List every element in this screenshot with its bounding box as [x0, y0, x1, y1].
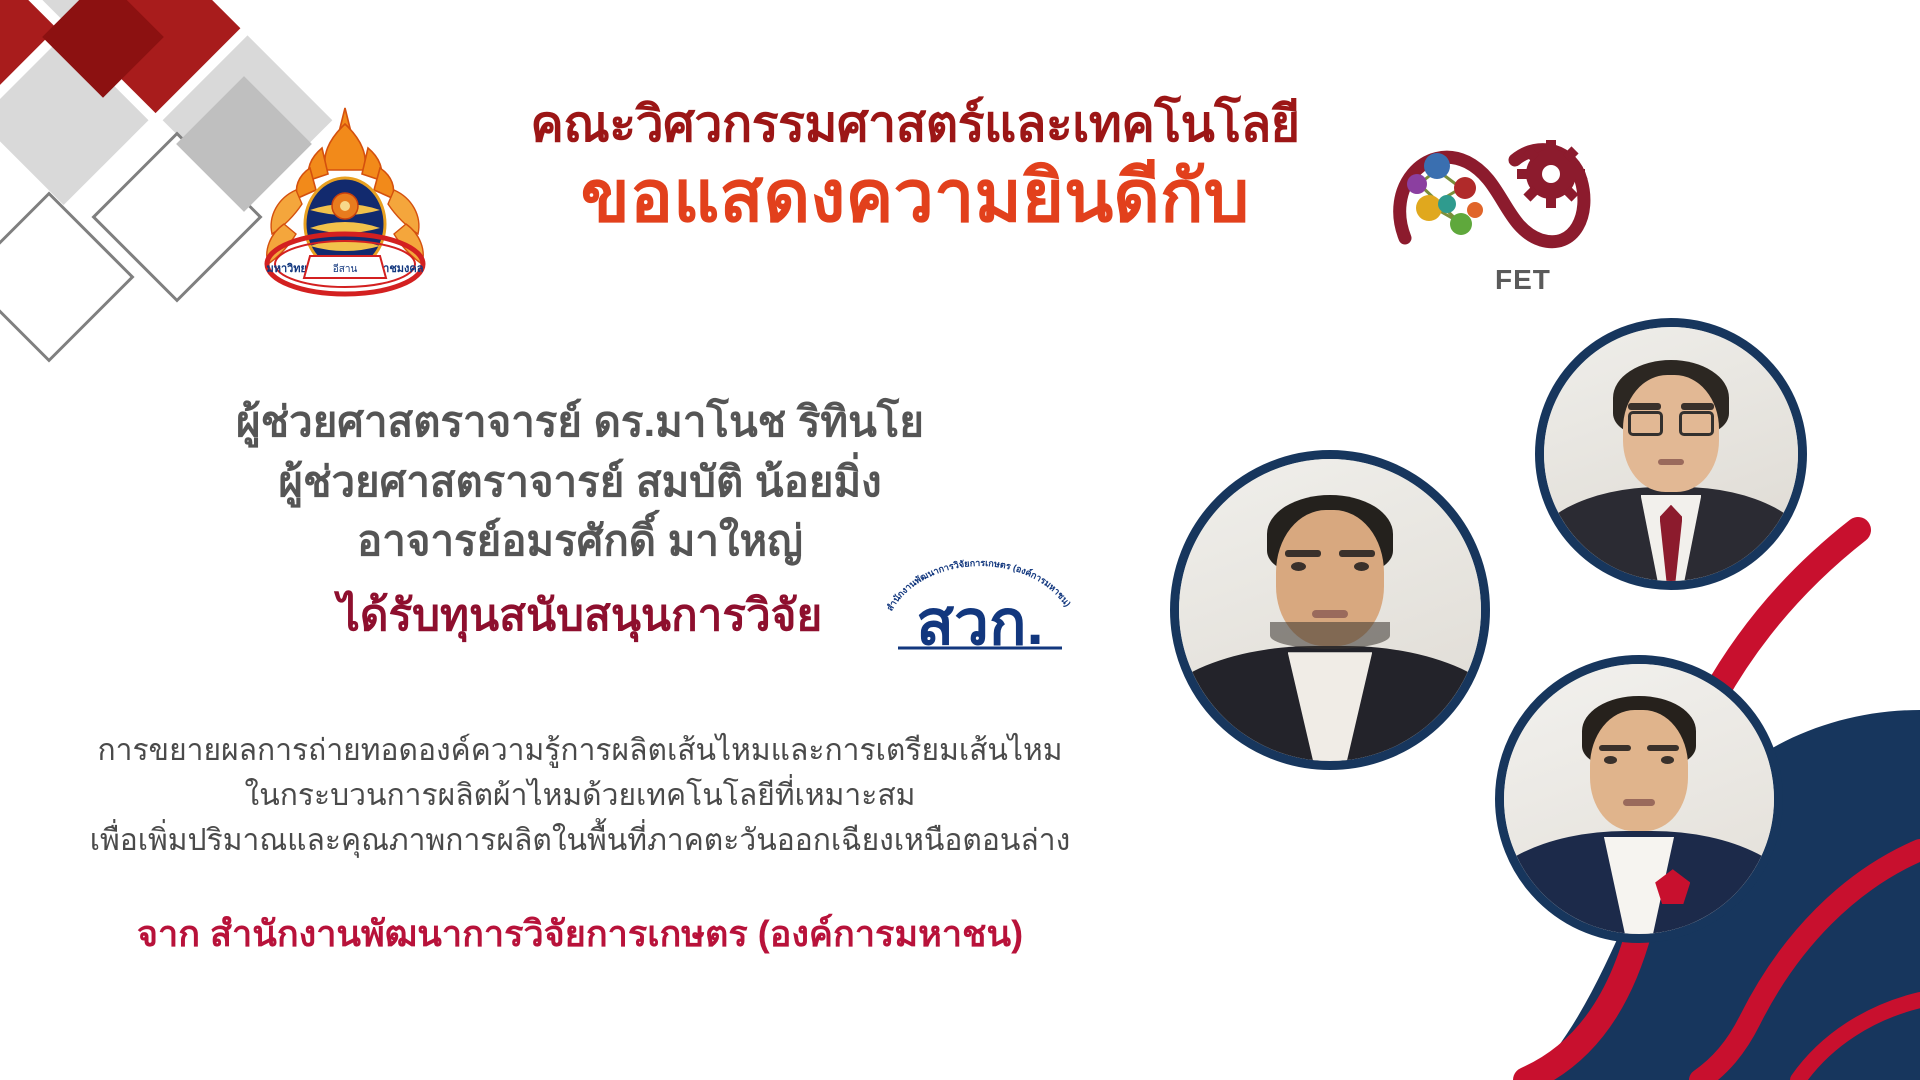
congratulation-banner: มหาวิทยาลัยเทคโนโลยีราชมงคล อีสาน คณะวิศ…	[0, 0, 1920, 1080]
faculty-title: คณะวิศวกรรมศาสตร์และเทคโนโลยี	[465, 96, 1365, 152]
fet-logo-icon	[1375, 118, 1605, 288]
fet-label: FET	[1495, 264, 1551, 296]
congratulations-title: ขอแสดงความยินดีกับ	[465, 156, 1365, 239]
university-seal-icon: มหาวิทยาลัยเทคโนโลยีราชมงคล อีสาน	[250, 106, 440, 306]
portrait-manote	[1535, 318, 1807, 590]
portrait-amornsak	[1495, 655, 1783, 943]
portrait-sombat	[1170, 450, 1490, 770]
header-titles: คณะวิศวกรรมศาสตร์และเทคโนโลยี ขอแสดงความ…	[465, 96, 1365, 239]
svg-text:อีสาน: อีสาน	[333, 263, 358, 275]
header-row: มหาวิทยาลัยเทคโนโลยีราชมงคล อีสาน คณะวิศ…	[250, 96, 1670, 306]
